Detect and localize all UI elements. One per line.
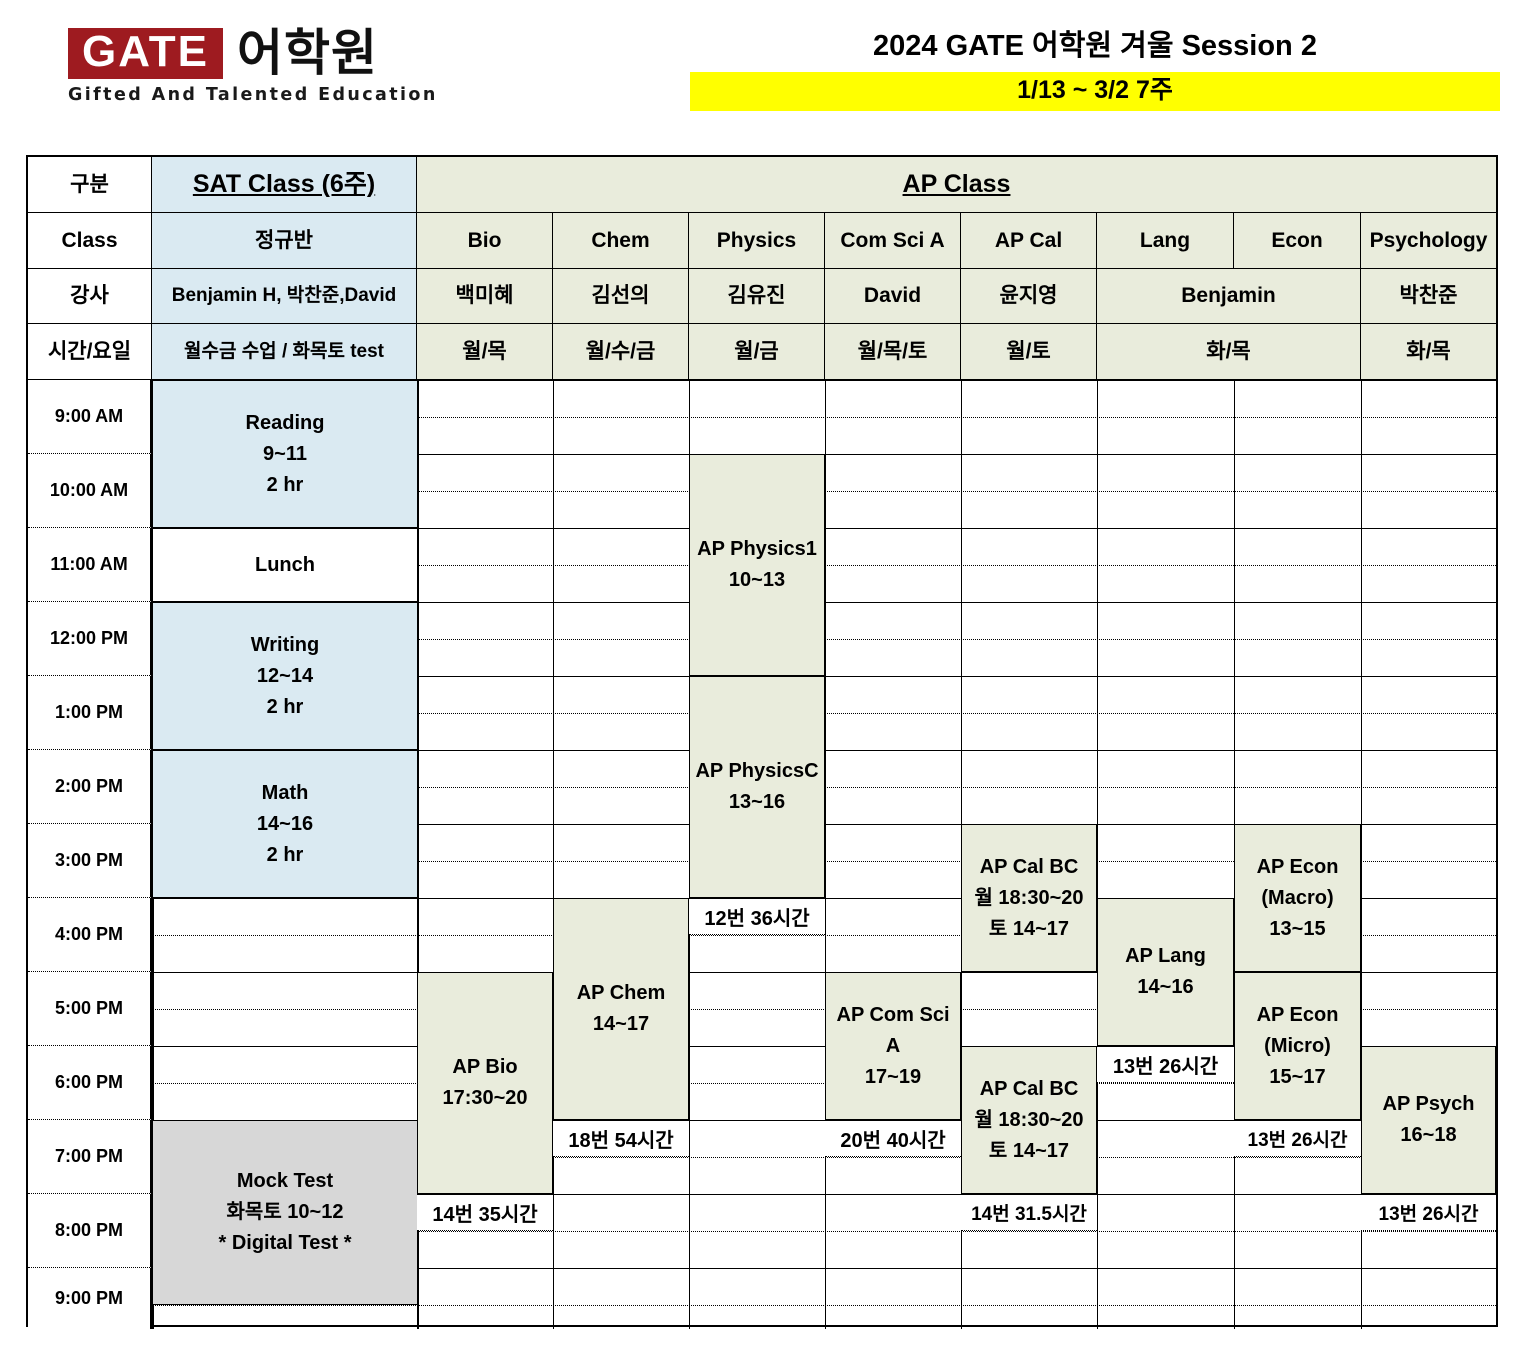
block-line: 15~17	[1269, 1062, 1325, 1093]
time-label-4pm: 4:00 PM	[28, 898, 152, 972]
time-label-11am: 11:00 AM	[28, 528, 152, 602]
sat-teacher: Benjamin H, 박찬준,David	[152, 269, 417, 324]
block-line: 17:30~20	[442, 1083, 527, 1114]
time-label-12pm: 12:00 PM	[28, 602, 152, 676]
ap-block-comsci[interactable]: AP Com Sci A 17~19	[825, 972, 961, 1120]
ap-timeday-apcal: 월/토	[961, 324, 1097, 380]
ap-block-lang[interactable]: AP Lang 14~16	[1097, 898, 1234, 1046]
ap-teacher-psychology: 박찬준	[1361, 269, 1496, 324]
block-line: 14~16	[257, 809, 313, 840]
ap-teacher-lang-econ: Benjamin	[1097, 269, 1361, 324]
block-line: 화목토 10~12	[227, 1197, 344, 1228]
ap-timeday-lang-econ: 화/목	[1097, 324, 1361, 380]
ap-hours-bio: 14번 35시간	[417, 1194, 553, 1231]
header-label-timeday: 시간/요일	[28, 324, 152, 380]
ap-class-apcal: AP Cal	[961, 213, 1097, 269]
ap-timeday-chem: 월/수/금	[553, 324, 689, 380]
header-label-category: 구분	[28, 157, 152, 213]
block-line: 13~16	[729, 787, 785, 818]
block-line: 월 18:30~20	[974, 1105, 1083, 1136]
block-line: Math	[262, 778, 309, 809]
ap-block-chem[interactable]: AP Chem 14~17	[553, 898, 689, 1120]
ap-class-psychology: Psychology	[1361, 213, 1496, 269]
ap-block-calbc-eve[interactable]: AP Cal BC 월 18:30~20 토 14~17	[961, 1046, 1097, 1194]
block-line: 토 14~17	[989, 1136, 1069, 1167]
grid-col-line	[1097, 380, 1098, 1329]
time-label-10am: 10:00 AM	[28, 454, 152, 528]
block-line: Lunch	[255, 550, 315, 581]
header-label-class: Class	[28, 213, 152, 269]
ap-class-econ: Econ	[1234, 213, 1361, 269]
ap-timeday-physics: 월/금	[689, 324, 825, 380]
time-label-2pm: 2:00 PM	[28, 750, 152, 824]
ap-block-physics1[interactable]: AP Physics1 10~13	[689, 454, 825, 676]
block-line: Writing	[251, 630, 320, 661]
grid-half-line	[152, 1305, 1496, 1306]
header-label-teacher: 강사	[28, 269, 152, 324]
block-line: 2 hr	[267, 470, 304, 501]
block-line: 14~16	[1137, 972, 1193, 1003]
block-line: A	[886, 1031, 900, 1062]
time-label-6pm: 6:00 PM	[28, 1046, 152, 1120]
sat-class-name: 정규반	[152, 213, 417, 269]
block-line: 토 14~17	[989, 914, 1069, 945]
ap-teacher-comsci: David	[825, 269, 961, 324]
ap-block-physicsc[interactable]: AP PhysicsC 13~16	[689, 676, 825, 898]
ap-class-bio: Bio	[417, 213, 553, 269]
ap-hours-lang: 13번 26시간	[1097, 1046, 1234, 1083]
ap-block-calbc-pm[interactable]: AP Cal BC 월 18:30~20 토 14~17	[961, 824, 1097, 972]
band-title-sat: SAT Class (6주)	[152, 157, 417, 213]
ap-teacher-physics: 김유진	[689, 269, 825, 324]
block-line: AP Lang	[1125, 941, 1206, 972]
ap-block-psych[interactable]: AP Psych 16~18	[1361, 1046, 1496, 1194]
block-line: 16~18	[1400, 1120, 1456, 1151]
time-label-9pm: 9:00 PM	[28, 1268, 152, 1329]
logo-tagline: Gifted And Talented Education	[68, 85, 488, 105]
block-line: AP Physics1	[697, 534, 817, 565]
ap-teacher-apcal: 윤지영	[961, 269, 1097, 324]
time-label-9am: 9:00 AM	[28, 380, 152, 454]
time-label-7pm: 7:00 PM	[28, 1120, 152, 1194]
block-line: Mock Test	[237, 1166, 333, 1197]
block-line: 12~14	[257, 661, 313, 692]
sat-block-reading[interactable]: Reading 9~11 2 hr	[152, 380, 418, 528]
ap-teacher-bio: 백미혜	[417, 269, 553, 324]
sat-timeday: 월수금 수업 / 화목토 test	[152, 324, 417, 380]
ap-hours-physics: 12번 36시간	[689, 898, 825, 935]
block-line: AP Bio	[452, 1052, 517, 1083]
block-line: 2 hr	[267, 840, 304, 871]
block-line: AP PhysicsC	[695, 756, 818, 787]
ap-timeday-psychology: 화/목	[1361, 324, 1496, 380]
gate-logo: GATE 어학원 Gifted And Talented Education	[68, 28, 488, 138]
block-line: 10~13	[729, 565, 785, 596]
ap-hours-psych: 13번 26시간	[1361, 1194, 1496, 1231]
block-line: (Micro)	[1264, 1031, 1331, 1062]
ap-class-comsci: Com Sci A	[825, 213, 961, 269]
block-line: 17~19	[865, 1062, 921, 1093]
block-line: 14~17	[593, 1009, 649, 1040]
ap-block-econ-micro[interactable]: AP Econ (Micro) 15~17	[1234, 972, 1361, 1120]
ap-timeday-comsci: 월/목/토	[825, 324, 961, 380]
block-line: 2 hr	[267, 692, 304, 723]
page-subtitle: 1/13 ~ 3/2 7주	[690, 72, 1500, 111]
ap-class-lang: Lang	[1097, 213, 1234, 269]
time-label-1pm: 1:00 PM	[28, 676, 152, 750]
block-line: AP Cal BC	[980, 1074, 1079, 1105]
ap-block-econ-macro[interactable]: AP Econ (Macro) 13~15	[1234, 824, 1361, 972]
grid-col-line	[553, 380, 554, 1329]
ap-timeday-bio: 월/목	[417, 324, 553, 380]
schedule-page: GATE 어학원 Gifted And Talented Education 2…	[0, 0, 1522, 1352]
block-line: AP Econ	[1257, 1000, 1339, 1031]
block-line: Reading	[246, 408, 325, 439]
grid-col-line	[825, 380, 826, 1329]
block-line: AP Psych	[1383, 1089, 1475, 1120]
ap-hours-calbc: 14번 31.5시간	[961, 1194, 1097, 1231]
sat-block-lunch[interactable]: Lunch	[152, 528, 418, 602]
ap-teacher-chem: 김선의	[553, 269, 689, 324]
schedule-table: 구분 SAT Class (6주) AP Class Class 정규반 Bio…	[26, 155, 1498, 1327]
ap-hours-econ: 13번 26시간	[1234, 1120, 1361, 1157]
block-line: 월 18:30~20	[974, 883, 1083, 914]
time-label-3pm: 3:00 PM	[28, 824, 152, 898]
block-line: AP Cal BC	[980, 852, 1079, 883]
logo-korean-text: 어학원	[237, 28, 378, 78]
ap-hours-chem: 18번 54시간	[553, 1120, 689, 1157]
page-title: 2024 GATE 어학원 겨울 Session 2	[690, 28, 1500, 64]
block-line: 9~11	[263, 439, 307, 470]
ap-class-physics: Physics	[689, 213, 825, 269]
sat-block-math[interactable]: Math 14~16 2 hr	[152, 750, 418, 898]
logo-brand-text: GATE	[68, 28, 223, 79]
band-title-ap: AP Class	[417, 157, 1496, 213]
ap-block-bio[interactable]: AP Bio 17:30~20	[417, 972, 553, 1194]
ap-class-chem: Chem	[553, 213, 689, 269]
time-label-5pm: 5:00 PM	[28, 972, 152, 1046]
block-line: (Macro)	[1261, 883, 1333, 914]
sat-block-mock-test[interactable]: Mock Test 화목토 10~12 * Digital Test *	[152, 1120, 418, 1305]
block-line: 13~15	[1269, 914, 1325, 945]
time-label-8pm: 8:00 PM	[28, 1194, 152, 1268]
block-line: AP Econ	[1257, 852, 1339, 883]
logo-row: GATE 어학원	[68, 28, 488, 79]
block-line: AP Chem	[577, 978, 666, 1009]
header-title-block: 2024 GATE 어학원 겨울 Session 2 1/13 ~ 3/2 7주	[690, 28, 1500, 111]
block-line: AP Com Sci	[837, 1000, 950, 1031]
block-line: * Digital Test *	[219, 1228, 352, 1259]
sat-block-writing[interactable]: Writing 12~14 2 hr	[152, 602, 418, 750]
ap-hours-comsci: 20번 40시간	[825, 1120, 961, 1157]
